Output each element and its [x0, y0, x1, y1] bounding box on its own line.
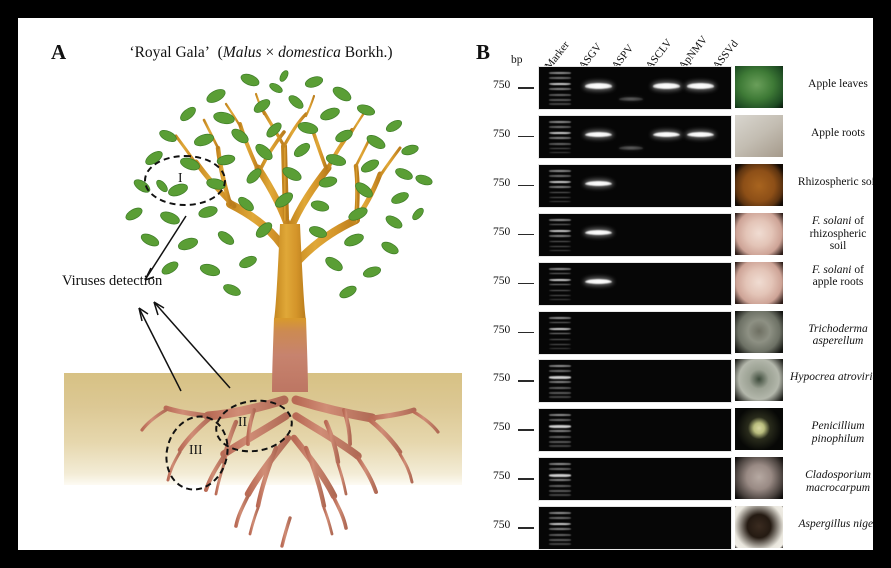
bp-tick-label: 750: [493, 275, 510, 287]
gel-band-asclv: [653, 132, 680, 137]
ladder-rung: [549, 485, 571, 487]
sample-thumbnail-apple-roots-photo: [735, 115, 783, 157]
ladder-rung: [549, 77, 571, 79]
sample-label: F. solani ofrhizosphericsoil: [788, 215, 873, 254]
ladder-rung: [549, 186, 571, 188]
sample-label-part: apple roots: [813, 276, 864, 288]
panel-b-letter: B: [476, 40, 490, 65]
gel-band-asclv: [653, 83, 680, 88]
bp-tick-line: [518, 87, 534, 89]
ladder-rung: [549, 333, 571, 335]
ladder-rung: [549, 490, 571, 492]
dna-ladder-marker: [549, 217, 571, 253]
sample-label-part: soil: [830, 240, 847, 252]
ladder-rung: [549, 88, 571, 90]
ladder-rung: [549, 284, 571, 286]
gel-lane-strip: [538, 359, 732, 403]
sample-label-text: Cladosporium macrocarpum: [805, 469, 871, 494]
sample-label-text: Penicillium pinophilum: [811, 420, 864, 445]
ladder-rung: [549, 441, 571, 443]
sample-thumbnail-penicillium-pinophilum-plate: [735, 408, 783, 450]
ladder-rung: [549, 148, 571, 150]
sample-label-text: Apple roots: [811, 127, 865, 139]
ladder-rung: [549, 317, 571, 319]
ladder-rung: [549, 273, 571, 275]
ladder-rung: [549, 392, 571, 394]
ladder-rung: [549, 235, 571, 237]
ladder-rung: [549, 241, 571, 243]
ladder-rung: [549, 381, 571, 383]
ladder-rung: [549, 534, 571, 536]
ladder-rung: [549, 445, 571, 447]
ladder-rung: [549, 126, 571, 128]
dna-ladder-marker: [549, 363, 571, 399]
bp-tick-label: 750: [493, 128, 510, 140]
region-label-i: I: [178, 170, 183, 186]
bp-tick-line: [518, 283, 534, 285]
ladder-rung: [549, 528, 571, 530]
figure-frame: A ‘Royal Gala’ (Malus × domestica Borkh.…: [0, 0, 891, 568]
ladder-rung: [549, 512, 571, 514]
ladder-rung: [549, 436, 571, 438]
ladder-rung: [549, 99, 571, 101]
bp-tick-line: [518, 185, 534, 187]
region-ellipse-i: [144, 155, 226, 206]
ladder-rung: [549, 143, 571, 145]
ladder-rung: [549, 299, 571, 301]
sample-label: Trichoderma asperellum: [788, 323, 873, 349]
gel-lane-strip: [538, 408, 732, 452]
gel-band-asgv: [585, 83, 612, 88]
sample-label: Hypocrea atroviridis: [788, 371, 873, 384]
gel-band-asgv: [585, 132, 612, 137]
sample-label: Apple roots: [788, 127, 873, 140]
sample-label: F. solani ofapple roots: [788, 264, 873, 290]
sample-label: Penicillium pinophilum: [788, 420, 873, 446]
ladder-rung: [549, 290, 571, 292]
gel-lane-strip: [538, 506, 732, 550]
gel-lane-strip: [538, 213, 732, 257]
panel-b: B bp MarkerASGVASPVASCLVApNMVASSVd 750Ap…: [463, 18, 873, 550]
ladder-rung: [549, 201, 571, 203]
sample-thumbnail-hypocrea-atroviridis-plate: [735, 359, 783, 401]
bp-tick-label: 750: [493, 372, 510, 384]
ladder-rung: [549, 268, 571, 270]
dna-ladder-marker: [549, 510, 571, 546]
gel-band-asgv: [585, 230, 612, 235]
ladder-rung: [549, 103, 571, 105]
ladder-rung: [549, 94, 571, 96]
ladder-rung: [549, 219, 571, 221]
dna-ladder-marker: [549, 70, 571, 106]
gel-lane-strip: [538, 262, 732, 306]
ladder-rung: [549, 468, 571, 470]
bp-tick-label: 750: [493, 324, 510, 336]
ladder-rung: [549, 328, 571, 330]
bp-tick-line: [518, 332, 534, 334]
figure-canvas: A ‘Royal Gala’ (Malus × domestica Borkh.…: [18, 18, 873, 550]
sample-label-text: Apple leaves: [808, 78, 868, 90]
dna-ladder-marker: [549, 119, 571, 155]
gel-band-apnmv: [687, 83, 714, 88]
sample-label-part: F. solani: [812, 264, 851, 276]
gel-band-aspv: [619, 97, 643, 101]
sample-thumbnail-fusarium-solani-soil-plate: [735, 213, 783, 255]
gel-band-asgv: [585, 279, 612, 284]
ladder-rung: [549, 396, 571, 398]
bp-tick-line: [518, 527, 534, 529]
sample-thumbnail-aspergillus-niger-plate: [735, 506, 783, 548]
bp-tick-line: [518, 136, 534, 138]
sample-label-text: Trichoderma asperellum: [808, 323, 867, 348]
sample-label-part: of: [851, 215, 863, 227]
sample-label: Cladosporium macrocarpum: [788, 469, 873, 495]
dna-ladder-marker: [549, 412, 571, 448]
ladder-rung: [549, 430, 571, 432]
ladder-rung: [549, 339, 571, 341]
ladder-rung: [549, 365, 571, 367]
sample-label-text: Aspergillus niger: [798, 518, 873, 530]
gel-lane-strip: [538, 457, 732, 501]
ladder-rung: [549, 387, 571, 389]
ladder-rung: [549, 181, 571, 183]
bp-tick-label: 750: [493, 519, 510, 531]
sample-thumbnail-apple-leaf-photo: [735, 66, 783, 108]
ladder-rung: [549, 322, 571, 324]
ladder-rung: [549, 250, 571, 252]
ladder-rung: [549, 370, 571, 372]
ladder-rung: [549, 197, 571, 199]
region-label-iii: III: [189, 442, 203, 458]
bp-tick-line: [518, 234, 534, 236]
ladder-rung: [549, 279, 571, 281]
ladder-rung: [549, 463, 571, 465]
ladder-rung: [549, 230, 571, 232]
sample-label-part: F. solani: [812, 215, 851, 227]
ladder-rung: [549, 376, 571, 378]
ladder-rung: [549, 479, 571, 481]
dna-ladder-marker: [549, 315, 571, 351]
bp-tick-line: [518, 380, 534, 382]
viruses-detection-label: Viruses detection: [62, 273, 162, 290]
bp-tick-label: 750: [493, 226, 510, 238]
sample-label-part: rhizospheric: [810, 228, 867, 240]
gel-band-apnmv: [687, 132, 714, 137]
ladder-rung: [549, 72, 571, 74]
bp-tick-label: 750: [493, 177, 510, 189]
ladder-rung: [549, 517, 571, 519]
gel-band-aspv: [619, 146, 643, 150]
sample-label-text: Rhizospheric soil: [798, 176, 873, 188]
ladder-rung: [549, 137, 571, 139]
ladder-rung: [549, 539, 571, 541]
sample-thumbnail-fusarium-solani-roots-plate: [735, 262, 783, 304]
bp-tick-line: [518, 478, 534, 480]
ladder-rung: [549, 83, 571, 85]
gel-lane-strip: [538, 66, 732, 110]
sample-label-text: Hypocrea atroviridis: [790, 371, 873, 383]
sample-thumbnail-cladosporium-macrocarpum-plate: [735, 457, 783, 499]
ladder-rung: [549, 132, 571, 134]
ladder-rung: [549, 175, 571, 177]
ladder-rung: [549, 348, 571, 350]
dna-ladder-marker: [549, 461, 571, 497]
ladder-rung: [549, 192, 571, 194]
sample-label: Rhizospheric soil: [788, 176, 873, 189]
region-label-ii: II: [238, 414, 247, 430]
bp-tick-label: 750: [493, 79, 510, 91]
ladder-rung: [549, 295, 571, 297]
ladder-rung: [549, 246, 571, 248]
ladder-rung: [549, 419, 571, 421]
ladder-rung: [549, 344, 571, 346]
sample-label: Apple leaves: [788, 78, 873, 91]
ladder-rung: [549, 170, 571, 172]
sample-thumbnail-rhizospheric-soil-photo: [735, 164, 783, 206]
dna-ladder-marker: [549, 266, 571, 302]
sample-label: Aspergillus niger: [788, 518, 873, 531]
ladder-rung: [549, 414, 571, 416]
bp-axis-header: bp: [511, 54, 523, 66]
gel-band-asgv: [585, 181, 612, 186]
ladder-rung: [549, 474, 571, 476]
bp-tick-line: [518, 429, 534, 431]
ladder-rung: [549, 121, 571, 123]
dna-ladder-marker: [549, 168, 571, 204]
bp-tick-label: 750: [493, 470, 510, 482]
ladder-rung: [549, 494, 571, 496]
gel-lane-strip: [538, 115, 732, 159]
gel-lane-strip: [538, 311, 732, 355]
ladder-rung: [549, 425, 571, 427]
sample-thumbnail-trichoderma-asperellum-plate: [735, 311, 783, 353]
panel-a: A ‘Royal Gala’ (Malus × domestica Borkh.…: [18, 18, 463, 550]
gel-lane-strip: [538, 164, 732, 208]
sample-label-part: of: [851, 264, 863, 276]
bp-tick-label: 750: [493, 421, 510, 433]
ladder-rung: [549, 543, 571, 545]
ladder-rung: [549, 523, 571, 525]
ladder-rung: [549, 152, 571, 154]
ladder-rung: [549, 224, 571, 226]
